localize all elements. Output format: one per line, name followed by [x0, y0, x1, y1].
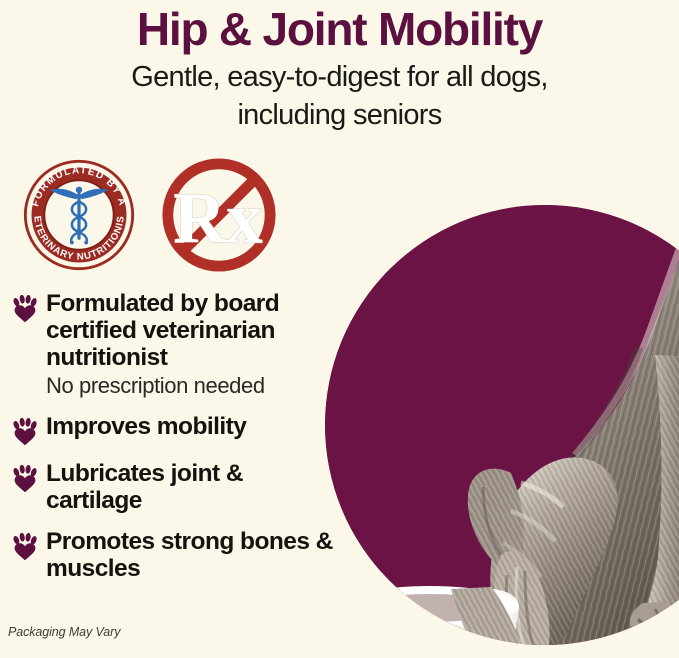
benefit-list: Formulated by board certified veterinari… — [12, 290, 342, 596]
no-prescription-badge: Rx Rx — [160, 156, 278, 274]
paw-print-icon — [12, 295, 38, 323]
list-item-label: Improves mobility — [46, 413, 342, 440]
paw-print-icon — [12, 533, 38, 561]
page-subtitle: Gentle, easy-to-digest for all dogs, inc… — [14, 58, 665, 134]
page-subtitle-line-2: including seniors — [14, 96, 665, 134]
formulated-by-vet-nutritionist-badge: FORMULATED BY A VETERINARY NUTRITIONIST — [22, 158, 136, 272]
list-item-texts: Promotes strong bones & muscles — [46, 528, 342, 582]
rx-symbol-overlay: Rx — [174, 178, 263, 259]
dog-photo-circle — [325, 205, 679, 645]
product-feature-card: Hip & Joint Mobility Gentle, easy-to-dig… — [0, 0, 679, 658]
paw-print-icon — [12, 465, 38, 493]
list-item-label: Formulated by board certified veterinari… — [46, 290, 342, 371]
list-item-label: Promotes strong bones & muscles — [46, 528, 342, 582]
list-item-texts: Lubricates joint & cartilage — [46, 460, 342, 514]
packaging-disclaimer: Packaging May Vary — [8, 625, 120, 639]
page-subtitle-line-1: Gentle, easy-to-digest for all dogs, — [14, 58, 665, 96]
list-item-subtext: No prescription needed — [46, 373, 342, 399]
list-item-texts: Improves mobility — [46, 413, 342, 440]
list-item: Promotes strong bones & muscles — [12, 528, 342, 582]
dog-eating-from-bowl-photo — [325, 205, 679, 645]
paw-print-icon — [12, 418, 38, 446]
list-item: Formulated by board certified veterinari… — [12, 290, 342, 399]
list-item-label: Lubricates joint & cartilage — [46, 460, 342, 514]
list-item-texts: Formulated by board certified veterinari… — [46, 290, 342, 399]
list-item: Improves mobility — [12, 413, 342, 446]
badge-group: FORMULATED BY A VETERINARY NUTRITIONIST — [22, 156, 278, 274]
page-title: Hip & Joint Mobility — [0, 2, 679, 56]
list-item: Lubricates joint & cartilage — [12, 460, 342, 514]
